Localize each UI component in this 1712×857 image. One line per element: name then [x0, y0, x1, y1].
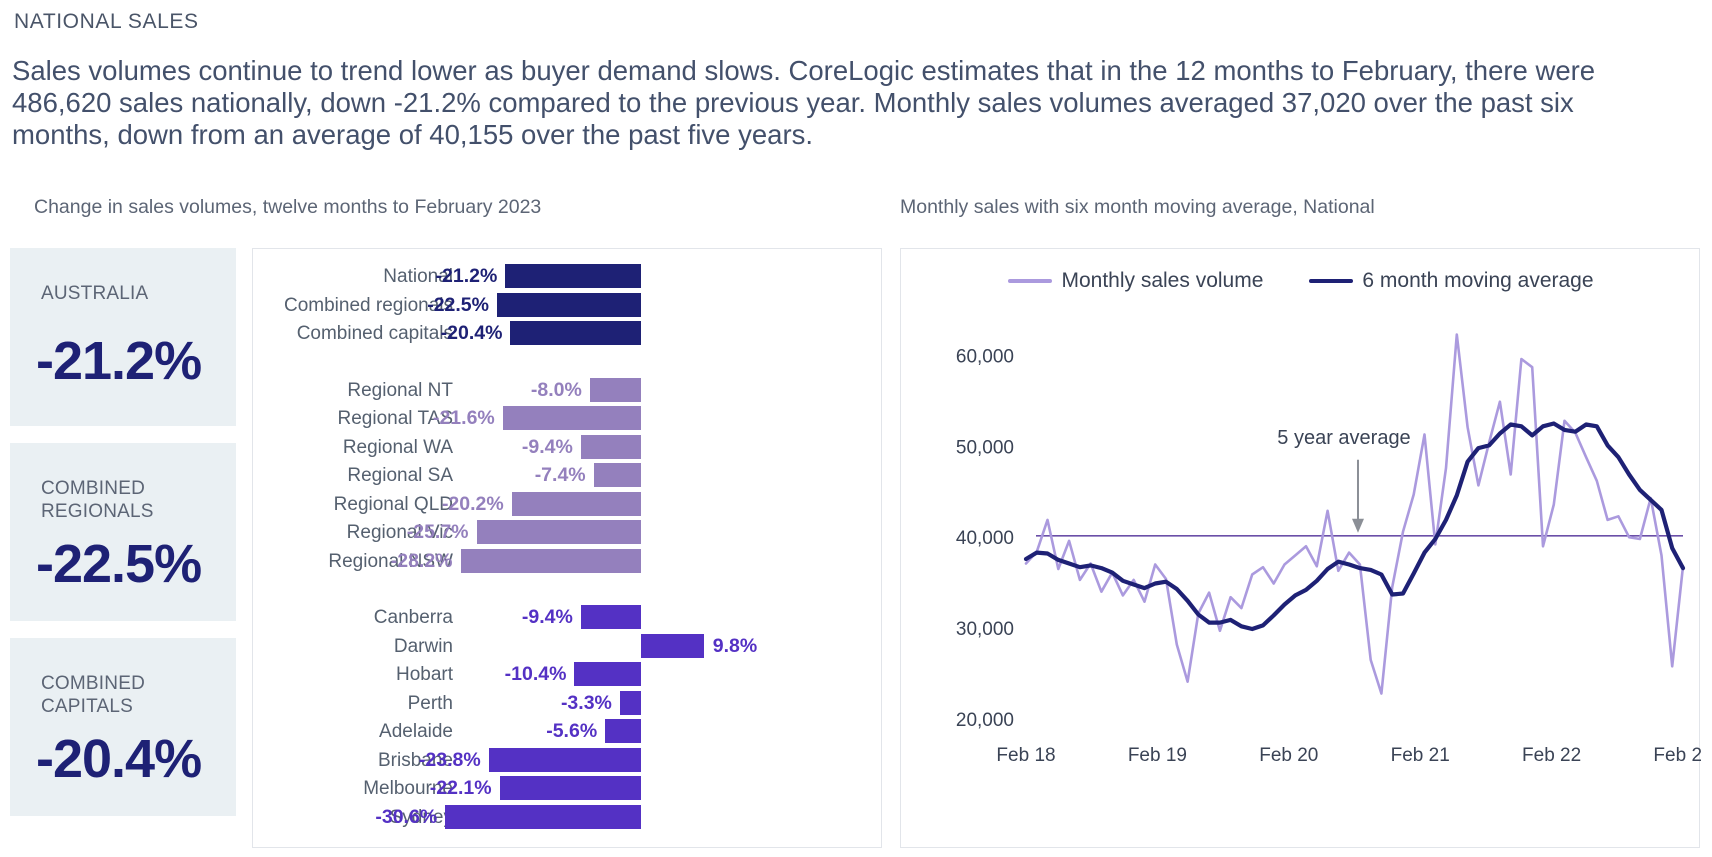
bar-row[interactable]: Regional WA-9.4%: [253, 434, 883, 463]
bar-category-label: Regional WA: [343, 437, 453, 459]
stat-card-label: AUSTRALIA: [41, 282, 148, 305]
stat-card-combined-capitals[interactable]: COMBINED CAPITALS -20.4%: [10, 638, 236, 816]
bar-row[interactable]: National-21.2%: [253, 263, 883, 292]
bar-value-label: -9.4%: [522, 606, 573, 629]
bar-chart-panel: National-21.2%Combined regionals-22.5%Co…: [252, 248, 882, 848]
y-axis-tick-label: 50,000: [956, 437, 1014, 458]
bar-row[interactable]: Adelaide-5.6%: [253, 718, 883, 747]
bar-rect: [581, 435, 641, 459]
bar-category-label: Regional NT: [347, 380, 453, 402]
bar-value-label: -21.6%: [433, 407, 495, 430]
y-axis-tick-label: 40,000: [956, 528, 1014, 549]
bar-category-label: Regional QLD: [334, 494, 453, 516]
bar-chart-rows: National-21.2%Combined regionals-22.5%Co…: [253, 263, 883, 832]
bar-row[interactable]: Regional Vic-25.7%: [253, 519, 883, 548]
bar-value-label: -20.2%: [442, 493, 504, 516]
page-kicker: NATIONAL SALES: [14, 10, 199, 34]
bar-row[interactable]: Regional TAS-21.6%: [253, 405, 883, 434]
bar-row[interactable]: Regional SA-7.4%: [253, 462, 883, 491]
x-axis-tick-label: Feb 19: [1128, 745, 1187, 766]
bar-rect: [503, 406, 641, 430]
bar-rect: [510, 321, 641, 345]
y-axis-tick-label: 30,000: [956, 619, 1014, 640]
bar-category-label: Darwin: [394, 636, 453, 658]
bar-row[interactable]: Combined capitals-20.4%: [253, 320, 883, 349]
bar-row[interactable]: Combined regionals-22.5%: [253, 292, 883, 321]
bar-rect: [477, 520, 641, 544]
bar-rect: [594, 463, 641, 487]
bar-value-label: -7.4%: [535, 464, 586, 487]
bar-rect: [445, 805, 641, 829]
bar-row[interactable]: Darwin9.8%: [253, 633, 883, 662]
x-axis-tick-label: Feb 23: [1653, 745, 1701, 766]
bar-row[interactable]: Canberra-9.4%: [253, 604, 883, 633]
bar-category-label: Perth: [408, 693, 453, 715]
page-lede: Sales volumes continue to trend lower as…: [12, 55, 1612, 152]
bar-rect: [497, 293, 641, 317]
bar-group-gap: [253, 349, 883, 377]
annotation-arrow-head-icon: [1352, 519, 1364, 533]
stat-card-combined-regionals[interactable]: COMBINED REGIONALS -22.5%: [10, 443, 236, 621]
bar-row[interactable]: Melbourne-22.1%: [253, 775, 883, 804]
series-monthly-sales-volume: [1026, 335, 1683, 694]
bar-value-label: -22.5%: [427, 294, 489, 317]
y-axis-tick-label: 60,000: [956, 346, 1014, 367]
bar-value-label: -9.4%: [522, 436, 573, 459]
bar-rect: [505, 264, 641, 288]
bar-category-label: Hobart: [396, 664, 453, 686]
bar-value-label: -8.0%: [531, 379, 582, 402]
bar-group-gap: [253, 576, 883, 604]
bar-value-label: 9.8%: [713, 635, 757, 658]
bar-row[interactable]: Perth-3.3%: [253, 690, 883, 719]
line-chart-title: Monthly sales with six month moving aver…: [900, 196, 1375, 219]
line-chart-panel: Monthly sales volume 6 month moving aver…: [900, 248, 1700, 848]
bar-chart-title: Change in sales volumes, twelve months t…: [34, 196, 541, 219]
bar-row[interactable]: Regional NSW-28.2%: [253, 548, 883, 577]
stat-card-list: AUSTRALIA -21.2% COMBINED REGIONALS -22.…: [10, 248, 236, 816]
bar-row[interactable]: Regional NT-8.0%: [253, 377, 883, 406]
stat-card-value: -20.4%: [36, 728, 201, 790]
bar-category-label: Regional SA: [347, 465, 453, 487]
bar-rect: [590, 378, 641, 402]
line-chart-svg: 20,00030,00040,00050,00060,000Feb 18Feb …: [901, 249, 1701, 849]
x-axis-tick-label: Feb 18: [996, 745, 1055, 766]
x-axis-tick-label: Feb 22: [1522, 745, 1581, 766]
bar-row[interactable]: Sydney-30.6%: [253, 804, 883, 833]
bar-rect: [500, 776, 641, 800]
bar-value-label: -20.4%: [441, 322, 503, 345]
bar-rect: [461, 549, 641, 573]
bar-rect: [581, 605, 641, 629]
bar-value-label: -22.1%: [430, 777, 492, 800]
bar-value-label: -21.2%: [436, 265, 498, 288]
five-year-average-annotation: 5 year average: [1277, 427, 1410, 449]
report-page: NATIONAL SALES Sales volumes continue to…: [0, 0, 1712, 857]
bar-row[interactable]: Regional QLD-20.2%: [253, 491, 883, 520]
bar-value-label: -3.3%: [561, 692, 612, 715]
bar-rect: [574, 662, 641, 686]
stat-card-label: COMBINED CAPITALS: [41, 672, 145, 718]
bar-rect: [512, 492, 641, 516]
stat-card-australia[interactable]: AUSTRALIA -21.2%: [10, 248, 236, 426]
bar-value-label: -5.6%: [546, 720, 597, 743]
bar-rect: [605, 719, 641, 743]
y-axis-tick-label: 20,000: [956, 710, 1014, 731]
bar-value-label: -30.6%: [375, 806, 437, 829]
bar-rect: [641, 634, 704, 658]
x-axis-tick-label: Feb 20: [1259, 745, 1318, 766]
bar-rect: [489, 748, 641, 772]
bar-row[interactable]: Hobart-10.4%: [253, 661, 883, 690]
bar-category-label: Adelaide: [379, 721, 453, 743]
bar-rect: [620, 691, 641, 715]
x-axis-tick-label: Feb 21: [1391, 745, 1450, 766]
stat-card-value: -21.2%: [36, 330, 201, 392]
bar-row[interactable]: Brisbane-23.8%: [253, 747, 883, 776]
bar-value-label: -10.4%: [505, 663, 567, 686]
stat-card-value: -22.5%: [36, 533, 201, 595]
bar-value-label: -28.2%: [391, 550, 453, 573]
bar-category-label: Combined capitals: [297, 323, 453, 345]
bar-category-label: Canberra: [374, 607, 453, 629]
bar-value-label: -25.7%: [407, 521, 469, 544]
stat-card-label: COMBINED REGIONALS: [41, 477, 154, 523]
bar-value-label: -23.8%: [419, 749, 481, 772]
